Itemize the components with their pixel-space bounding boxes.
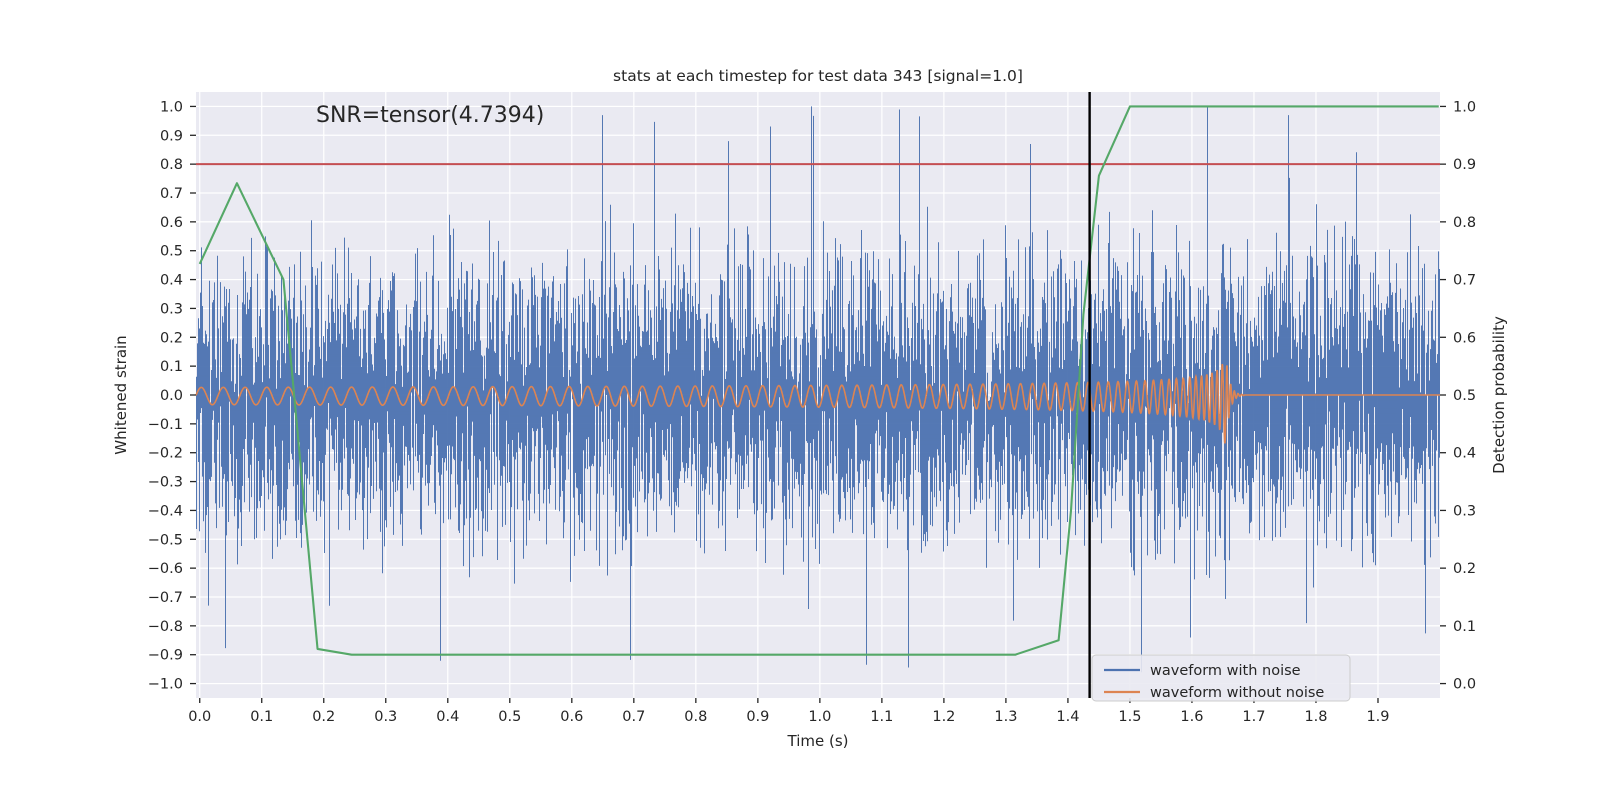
x-tick-label: 0.7: [622, 709, 645, 725]
x-tick-label: 0.0: [188, 709, 211, 725]
x-tick-label: 1.9: [1366, 709, 1389, 725]
y-tick-label: 0.0: [160, 388, 183, 404]
y-tick-label-right: 0.2: [1453, 561, 1476, 577]
x-tick-label: 1.8: [1304, 709, 1327, 725]
y-tick-label-right: 0.3: [1453, 503, 1476, 519]
y-tick-label-right: 0.8: [1453, 215, 1476, 231]
figure-canvas: 0.00.10.20.30.40.50.60.70.80.91.01.11.21…: [0, 0, 1600, 800]
y-tick-label-right: 0.9: [1453, 157, 1476, 173]
y-tick-label-right: 0.4: [1453, 446, 1476, 462]
y-tick-label: −0.3: [148, 475, 183, 491]
y-tick-label: −0.1: [148, 417, 183, 433]
y-tick-label: 0.5: [160, 244, 183, 260]
x-tick-label: 1.1: [870, 709, 893, 725]
y-tick-label: 0.1: [160, 359, 183, 375]
x-tick-label: 0.2: [312, 709, 335, 725]
x-tick-label: 0.9: [746, 709, 769, 725]
chart-title: stats at each timestep for test data 343…: [613, 67, 1023, 85]
y-tick-label: 1.0: [160, 99, 183, 115]
y-axis-right-label: Detection probability: [1490, 316, 1508, 474]
y-tick-label: −0.4: [148, 503, 183, 519]
legend-label-1: waveform without noise: [1150, 685, 1324, 701]
y-tick-label: 0.2: [160, 330, 183, 346]
y-tick-label: 0.6: [160, 215, 183, 231]
y-axis-left-label: Whitened strain: [112, 335, 130, 454]
x-tick-label: 1.5: [1118, 709, 1141, 725]
x-tick-label: 0.8: [684, 709, 707, 725]
x-axis-label: Time (s): [787, 732, 849, 750]
y-tick-label-right: 0.6: [1453, 330, 1476, 346]
y-tick-label: 0.4: [160, 273, 183, 289]
x-tick-label: 1.4: [1056, 709, 1079, 725]
y-tick-label: −0.6: [148, 561, 183, 577]
y-tick-label-right: 0.0: [1453, 677, 1476, 693]
legend-label-0: waveform with noise: [1150, 663, 1301, 679]
y-tick-label: 0.9: [160, 128, 183, 144]
y-tick-label: −0.5: [148, 532, 183, 548]
y-tick-label: −0.2: [148, 446, 183, 462]
y-tick-label: −0.8: [148, 619, 183, 635]
y-tick-label: −1.0: [148, 677, 183, 693]
x-tick-label: 0.3: [374, 709, 397, 725]
x-tick-label: 0.6: [560, 709, 583, 725]
y-tick-label-right: 0.7: [1453, 273, 1476, 289]
y-tick-label: −0.7: [148, 590, 183, 606]
x-tick-label: 1.0: [808, 709, 831, 725]
chart-legend[interactable]: waveform with noisewaveform without nois…: [1092, 655, 1350, 701]
y-tick-label-right: 0.1: [1453, 619, 1476, 635]
x-tick-label: 0.5: [498, 709, 521, 725]
x-tick-label: 1.2: [932, 709, 955, 725]
y-tick-label: 0.7: [160, 186, 183, 202]
x-tick-label: 0.1: [250, 709, 273, 725]
y-tick-label: 0.3: [160, 301, 183, 317]
x-tick-label: 1.7: [1242, 709, 1265, 725]
y-tick-label-right: 1.0: [1453, 99, 1476, 115]
snr-annotation: SNR=tensor(4.7394): [316, 103, 544, 128]
x-tick-label: 1.3: [994, 709, 1017, 725]
y-tick-label: −0.9: [148, 648, 183, 664]
y-tick-label-right: 0.5: [1453, 388, 1476, 404]
y-tick-label: 0.8: [160, 157, 183, 173]
x-tick-label: 1.6: [1180, 709, 1203, 725]
chart-svg: 0.00.10.20.30.40.50.60.70.80.91.01.11.21…: [0, 0, 1600, 800]
x-tick-label: 0.4: [436, 709, 459, 725]
